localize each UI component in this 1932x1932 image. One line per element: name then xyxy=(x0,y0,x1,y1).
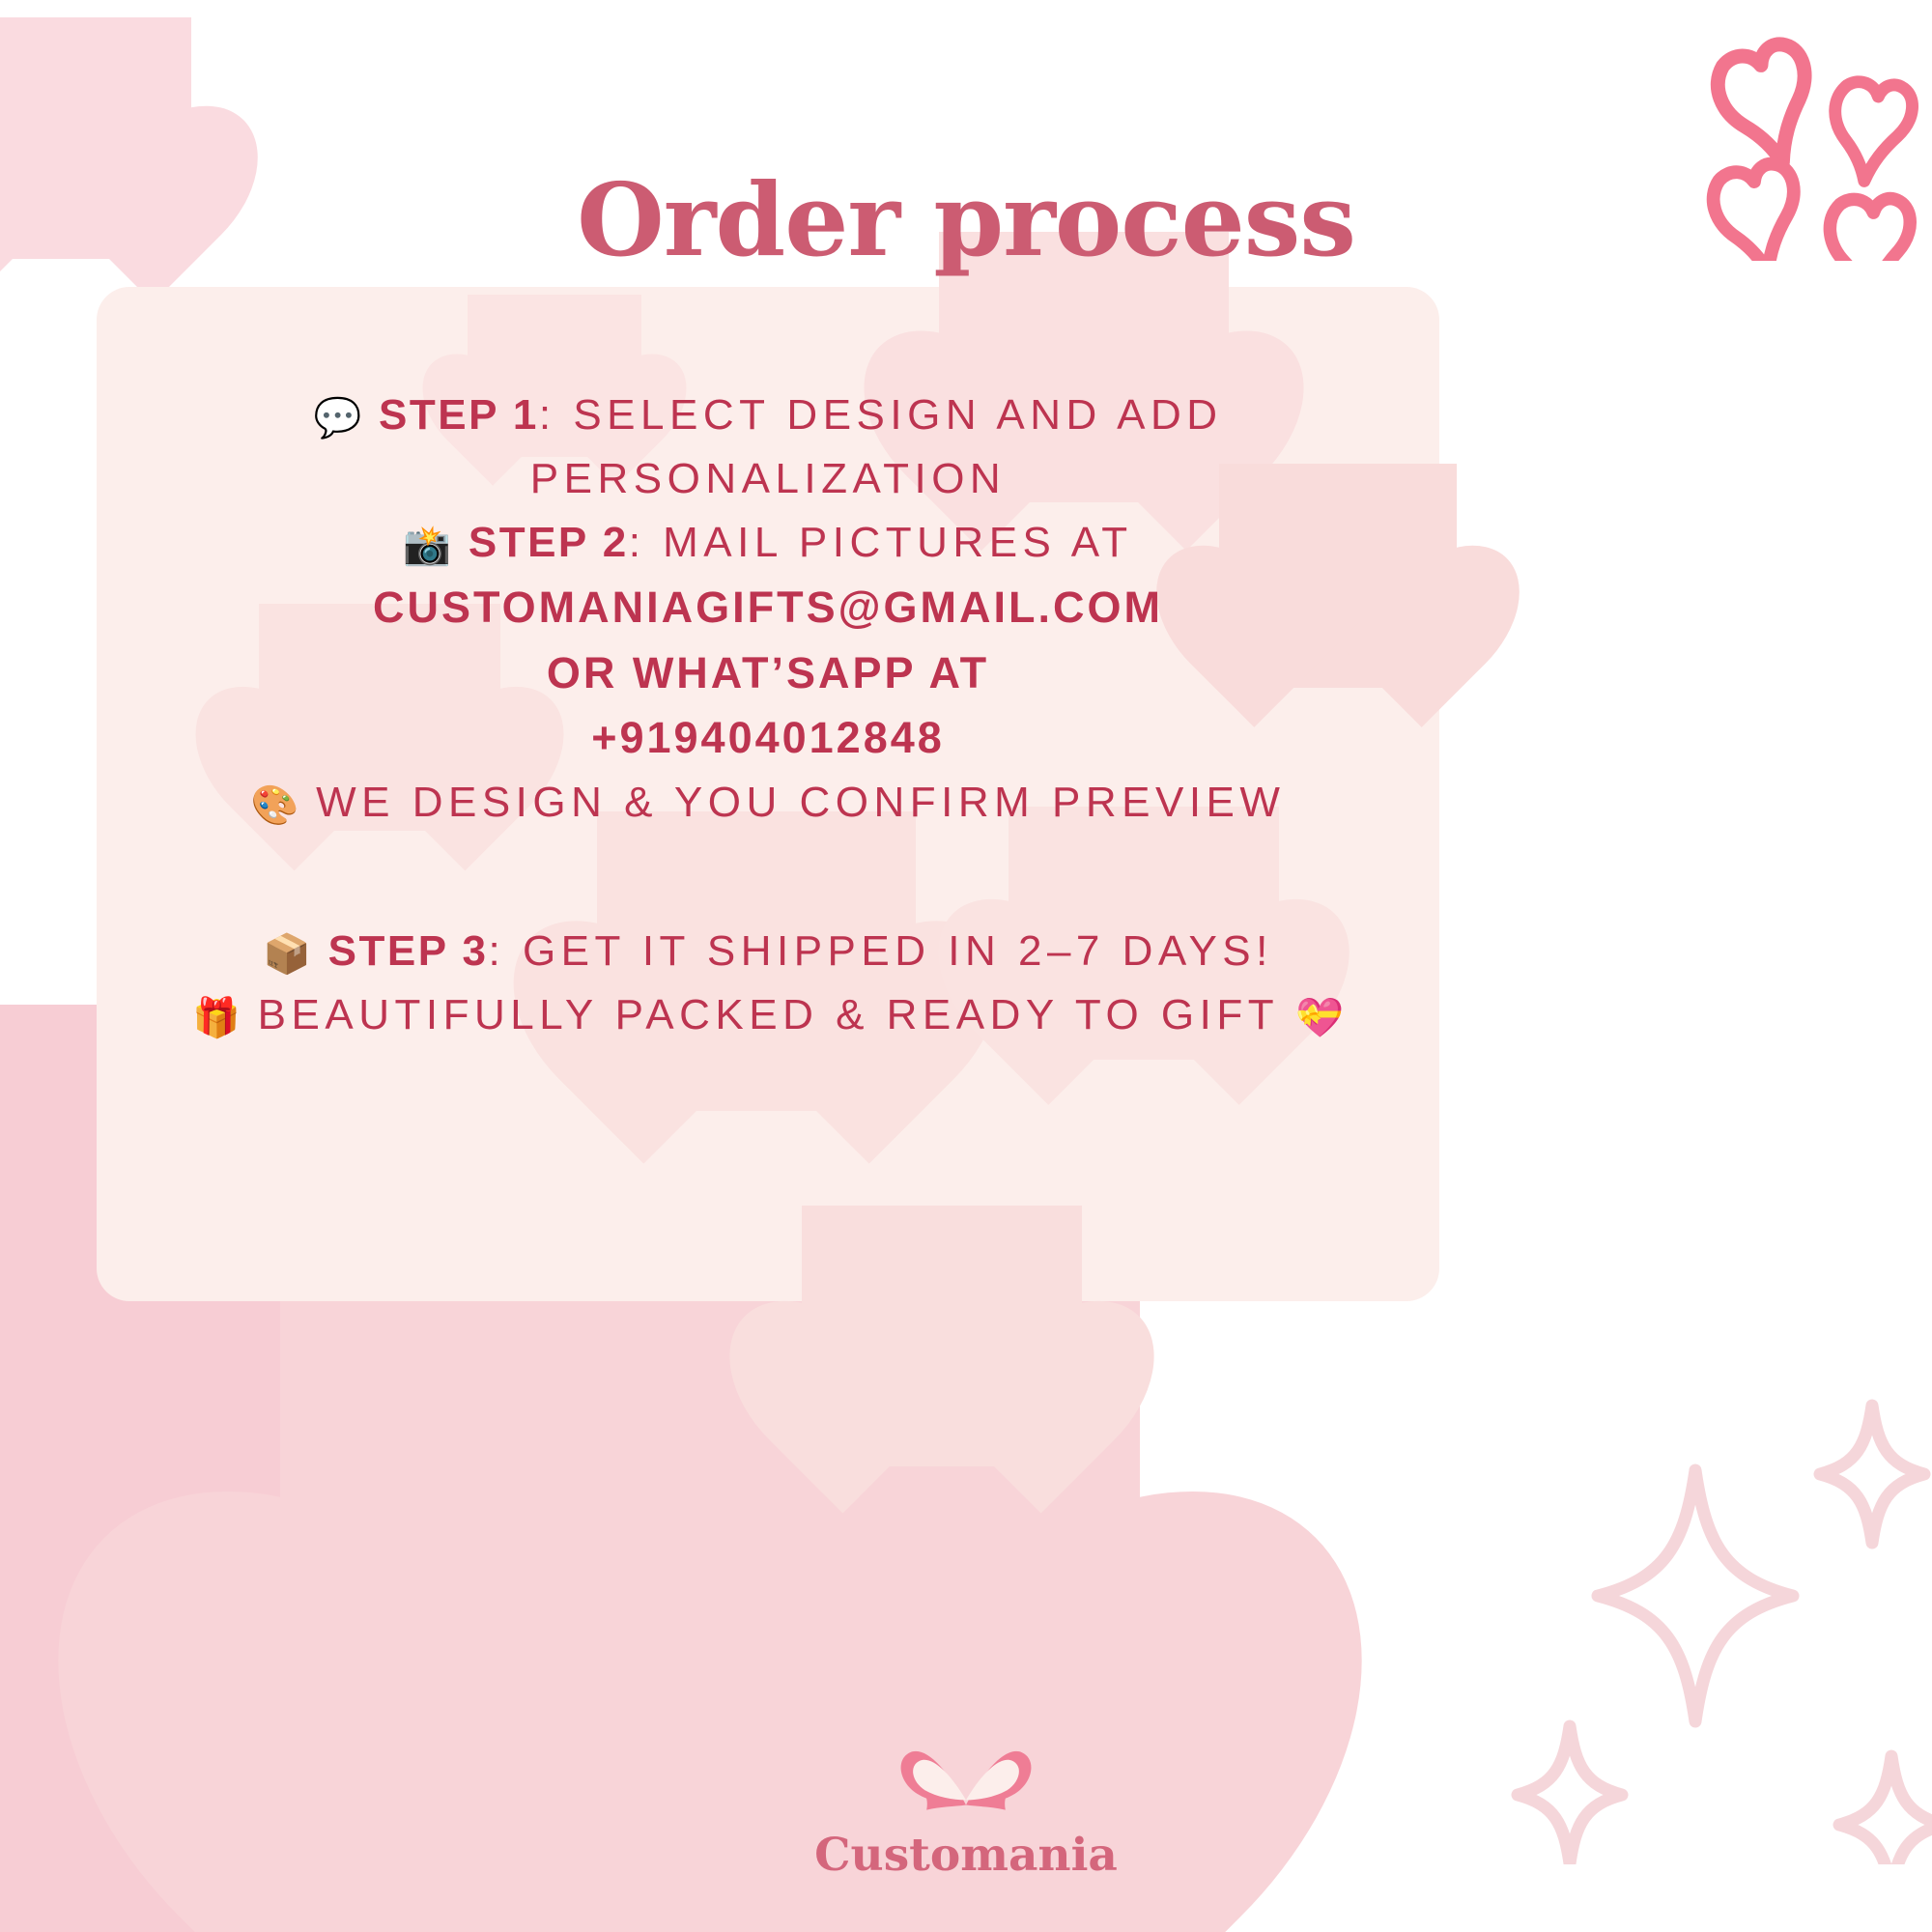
packing-text: BEAUTIFULLY PACKED & READY TO GIFT xyxy=(258,991,1279,1038)
step-1-separator: : xyxy=(539,391,556,439)
poster-canvas: Order process 💬 STEP 1: SELECT DESIGN AN… xyxy=(0,0,1932,1932)
step-2-text: MAIL PICTURES AT xyxy=(645,519,1132,566)
whatsapp-label: OR WHAT’SAPP AT xyxy=(164,640,1372,706)
page-title: Order process xyxy=(0,167,1932,272)
preview-text: WE DESIGN & YOU CONFIRM PREVIEW xyxy=(316,779,1285,826)
heart-with-ribbon-icon: 💝 xyxy=(1295,996,1344,1040)
step-2-line: 📸 STEP 2: MAIL PICTURES AT xyxy=(164,511,1372,575)
preview-line: 🎨 WE DESIGN & YOU CONFIRM PREVIEW xyxy=(164,771,1372,835)
step-3-separator: : xyxy=(488,927,505,975)
steps-list: 💬 STEP 1: SELECT DESIGN AND ADD PERSONAL… xyxy=(97,287,1439,1301)
step-1-text: SELECT DESIGN AND ADD PERSONALIZATION xyxy=(530,391,1223,502)
phone-number[interactable]: +919404012848 xyxy=(164,705,1372,771)
speech-balloon-icon: 💬 xyxy=(313,396,361,440)
step-3-label: STEP 3 xyxy=(328,927,489,975)
logo-wordmark: Customania xyxy=(814,1829,1118,1882)
wrapped-gift-icon: 🎁 xyxy=(192,996,241,1040)
package-icon: 📦 xyxy=(263,932,311,977)
artist-palette-icon: 🎨 xyxy=(251,783,299,828)
camera-with-flash-icon: 📸 xyxy=(403,524,451,568)
step-1-line: 💬 STEP 1: SELECT DESIGN AND ADD PERSONAL… xyxy=(164,384,1372,511)
step-3-text: GET IT SHIPPED IN 2–7 DAYS! xyxy=(505,927,1273,975)
email-address[interactable]: CUSTOMANIAGIFTS@GMAIL.COM xyxy=(164,575,1372,640)
step-1-label: STEP 1 xyxy=(379,391,539,439)
packing-line: 🎁 BEAUTIFULLY PACKED & READY TO GIFT 💝 xyxy=(164,983,1372,1047)
step-3-line: 📦 STEP 3: GET IT SHIPPED IN 2–7 DAYS! xyxy=(164,920,1372,983)
brand-logo: Customania xyxy=(0,1734,1932,1882)
ribbon-bow-icon xyxy=(884,1734,1048,1827)
step-2-label: STEP 2 xyxy=(469,519,629,566)
step-2-separator: : xyxy=(629,519,646,566)
